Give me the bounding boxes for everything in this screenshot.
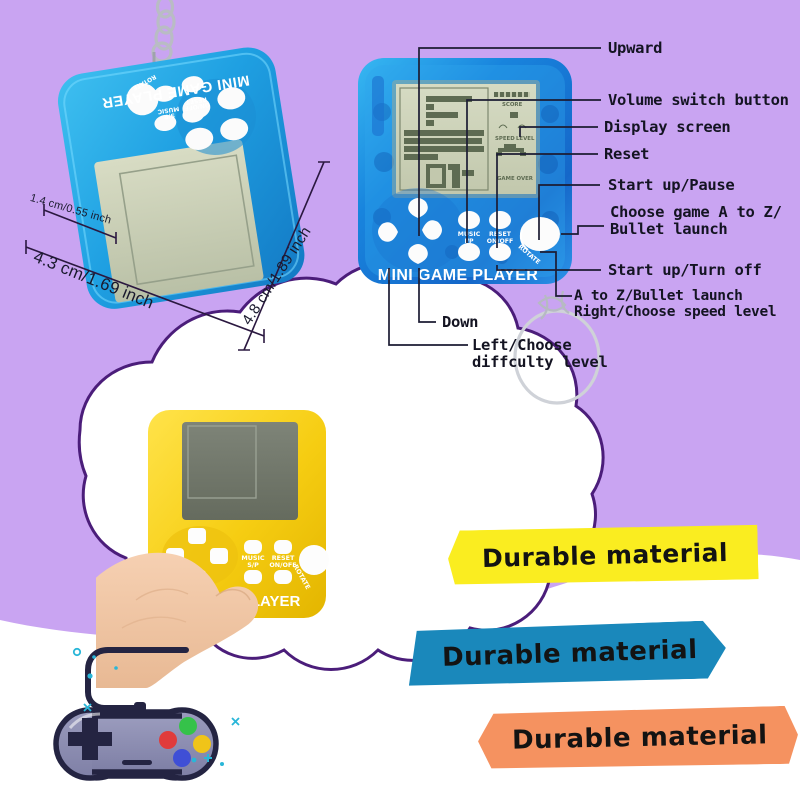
callout-down: Down xyxy=(442,314,478,331)
callout-left-line1: Left/Choose xyxy=(472,337,672,354)
callout-choose-game-line2: Bullet launch xyxy=(610,221,800,238)
callout-left-line2: diffculty level xyxy=(472,354,672,371)
infographic-canvas: MUSIC S/P RESET ON/OFF ROTATE MINI GAME … xyxy=(0,0,800,800)
callout-choose-game-line1: Choose game A to Z/ xyxy=(610,204,800,221)
callout-volume-switch-button: Volume switch button xyxy=(608,92,789,109)
banner-yellow-label: Durable material xyxy=(482,537,729,572)
callout-left-difficulty: Left/Choose diffculty level xyxy=(472,337,672,372)
banner-orange-label: Durable material xyxy=(512,720,768,755)
svg-text:S/P: S/P xyxy=(247,561,259,569)
banner-blue: Durable material xyxy=(407,620,727,688)
callout-a-to-z: A to Z/Bullet launch Right/Choose speed … xyxy=(574,288,800,320)
callout-a-to-z-line2: Right/Choose speed level xyxy=(574,304,800,320)
banner-orange: Durable material xyxy=(477,706,798,771)
sparkle-decorations xyxy=(46,636,286,796)
callout-choose-game: Choose game A to Z/ Bullet launch xyxy=(610,204,800,239)
callout-display-screen: Display screen xyxy=(604,119,730,136)
callout-start-up-turn-off: Start up/Turn off xyxy=(608,262,762,279)
callout-a-to-z-line1: A to Z/Bullet launch xyxy=(574,288,800,304)
callout-reset: Reset xyxy=(604,146,649,163)
callout-start-up-pause: Start up/Pause xyxy=(608,177,734,194)
callout-upward: Upward xyxy=(608,40,662,57)
yellow-device-lcd xyxy=(182,422,298,520)
banner-yellow: Durable material xyxy=(447,523,758,587)
